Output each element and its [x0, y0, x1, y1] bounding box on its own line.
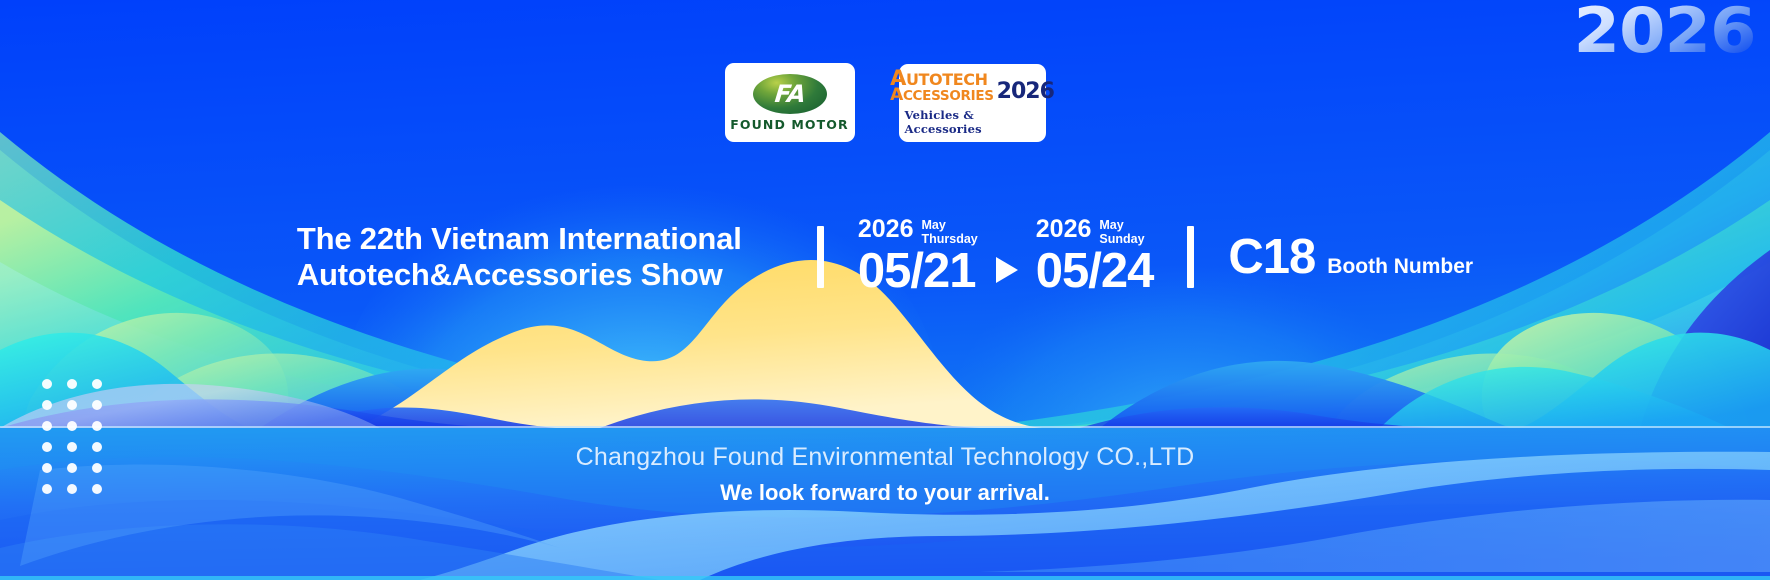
divider-left [817, 226, 824, 288]
found-motor-caption: FOUND MOTOR [730, 117, 848, 132]
booth-number: C18 [1228, 233, 1315, 282]
exhibition-banner: 2026 FA FOUND MOTOR AUTOTECH ACCESSORIES… [0, 0, 1770, 580]
autotech-year: 2026 [997, 79, 1054, 104]
event-title: The 22th Vietnam International Autotech&… [297, 221, 817, 294]
date-start: 2026 May Thursday 05/21 [858, 217, 978, 297]
date-start-month: May [922, 219, 978, 233]
autotech-subtitle: Vehicles & Accessories [905, 108, 1040, 136]
booth-label: Booth Number [1327, 255, 1473, 279]
date-start-top: 2026 May Thursday [858, 217, 978, 246]
date-end: 2026 May Sunday 05/24 [1036, 217, 1154, 297]
date-end-year: 2026 [1036, 217, 1092, 242]
autotech-line1: AUTOTECH [890, 69, 994, 88]
grid-dot [42, 379, 52, 389]
autotech-wordmark: AUTOTECH ACCESSORIES 2026 [890, 69, 1054, 104]
date-end-value: 05/24 [1036, 246, 1154, 297]
autotech-line1-rest: UTOTECH [906, 70, 988, 89]
logo-row: FA FOUND MOTOR AUTOTECH ACCESSORIES 2026… [0, 63, 1770, 142]
date-start-year: 2026 [858, 217, 914, 242]
grid-dot [92, 421, 102, 431]
event-info-band: The 22th Vietnam International Autotech&… [0, 200, 1770, 315]
date-start-value: 05/21 [858, 246, 978, 297]
grid-dot [92, 400, 102, 410]
grid-dot [67, 400, 77, 410]
grid-dot [67, 421, 77, 431]
footer: Changzhou Found Environmental Technology… [0, 443, 1770, 506]
fa-monogram-text: FA [773, 82, 805, 106]
booth-info: C18 Booth Number [1228, 233, 1473, 282]
date-end-month: May [1099, 219, 1144, 233]
autotech-line2: ACCESSORIES [890, 88, 994, 104]
date-end-top: 2026 May Sunday [1036, 217, 1154, 246]
divider-right [1187, 226, 1194, 288]
date-start-weekday-block: May Thursday [922, 217, 978, 246]
watermark-year: 2026 [1574, 0, 1756, 67]
found-motor-logo: FA FOUND MOTOR [725, 63, 855, 142]
autotech-accessories-logo: AUTOTECH ACCESSORIES 2026 Vehicles & Acc… [899, 64, 1046, 142]
arrow-right-icon [996, 257, 1018, 283]
fa-monogram-icon: FA [753, 74, 827, 114]
autotech-line2-cap: A [890, 85, 903, 105]
grid-dot [67, 379, 77, 389]
event-dates: 2026 May Thursday 05/21 2026 May Sunday [858, 217, 1154, 297]
grid-dot [42, 421, 52, 431]
company-name: Changzhou Found Environmental Technology… [0, 443, 1770, 472]
grid-dot [42, 400, 52, 410]
grid-dot [92, 379, 102, 389]
autotech-wordmark-stack: AUTOTECH ACCESSORIES [890, 69, 994, 104]
tagline: We look forward to your arrival. [0, 480, 1770, 506]
autotech-line2-rest: CCESSORIES [903, 88, 994, 104]
date-end-weekday-block: May Sunday [1099, 217, 1144, 246]
